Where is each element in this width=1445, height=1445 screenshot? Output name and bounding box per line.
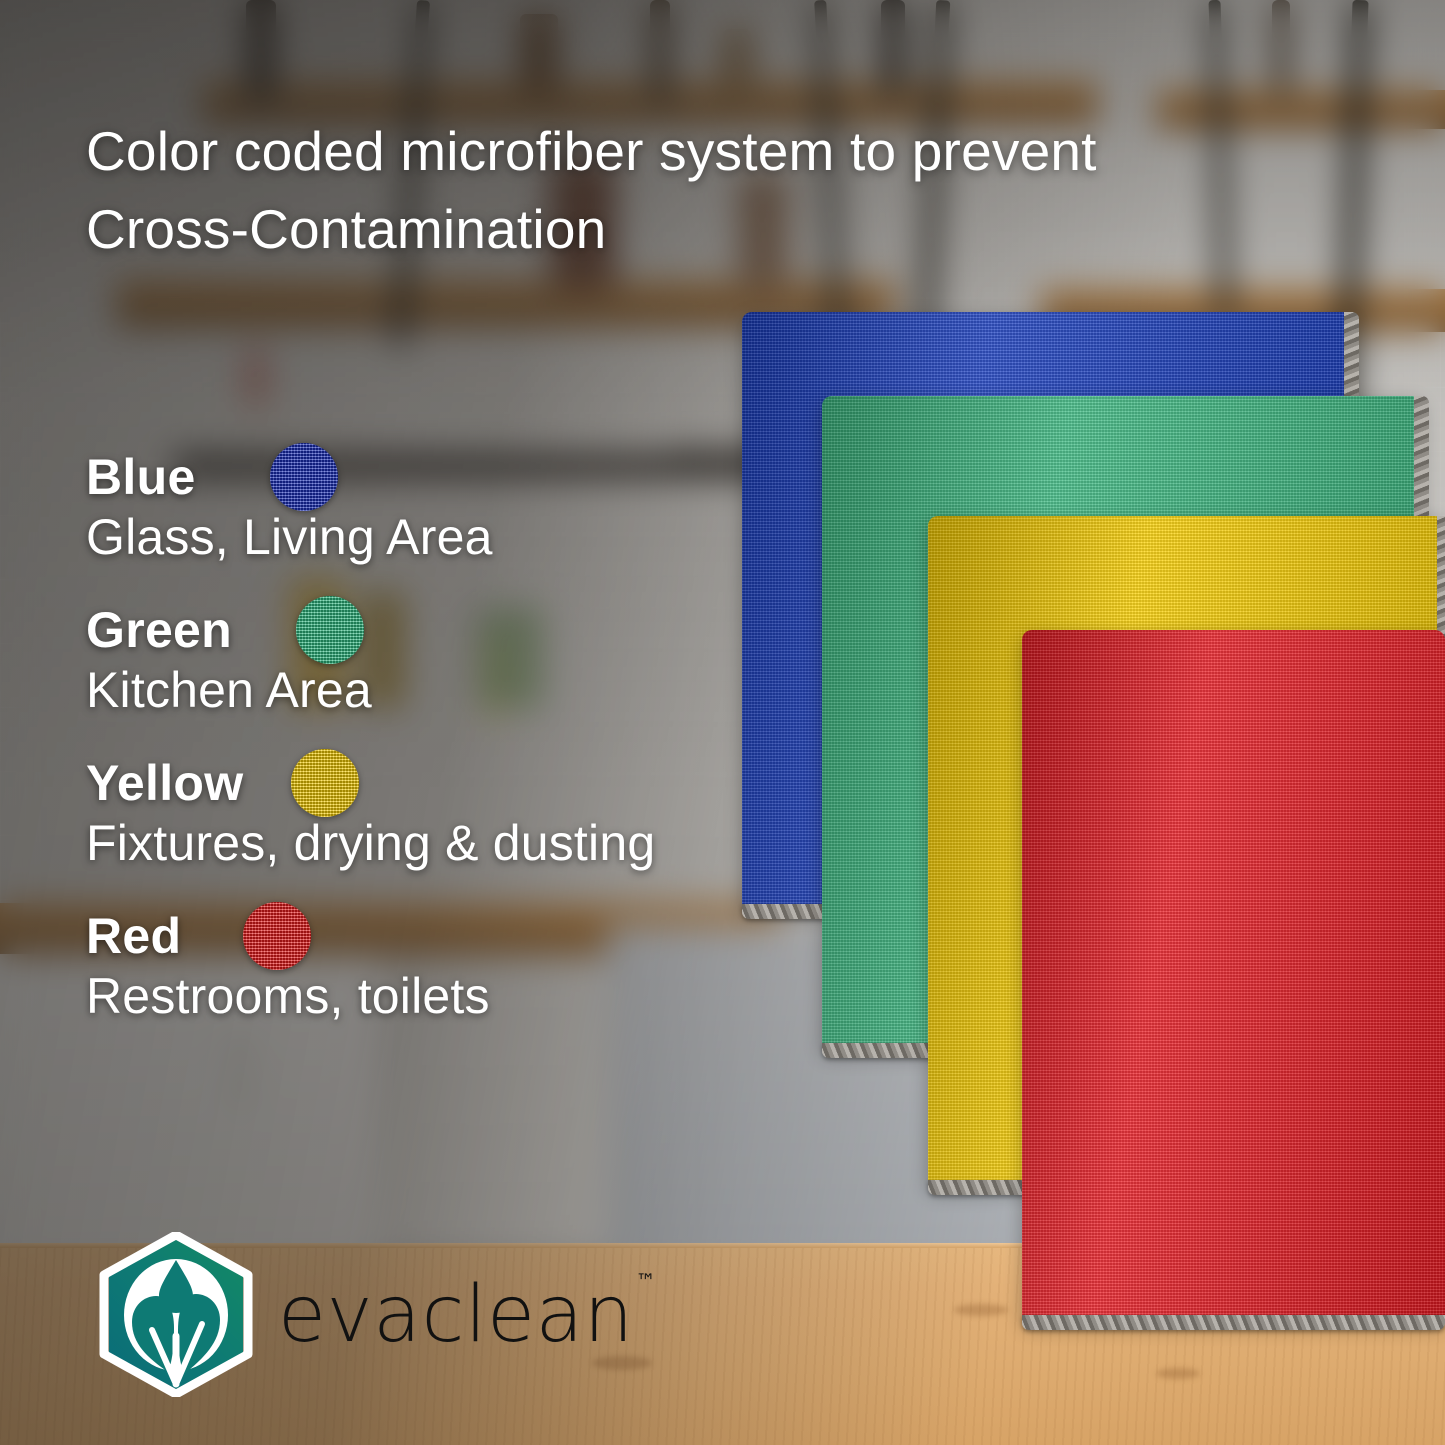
hexagon-leaf-droplet-icon xyxy=(96,1232,256,1397)
brand-wordmark-text: evaclean xyxy=(278,1270,634,1360)
legend-color-name: Blue xyxy=(86,448,196,506)
cloth-red xyxy=(1022,630,1445,1323)
legend-row: Green xyxy=(86,593,806,667)
color-swatch-dot-red xyxy=(243,902,311,970)
trademark-symbol: ™ xyxy=(636,1269,657,1293)
legend-item-red: Red Restrooms, toilets xyxy=(86,899,806,1024)
legend-row: Blue xyxy=(86,440,806,514)
cloth-shading xyxy=(1022,630,1445,1323)
legend-color-name: Red xyxy=(86,907,181,965)
legend-color-name: Yellow xyxy=(86,754,243,812)
legend-color-description: Kitchen Area xyxy=(86,663,806,718)
headline-line-2: Cross-Contamination xyxy=(86,190,1386,268)
legend-color-description: Restrooms, toilets xyxy=(86,969,806,1024)
legend-item-green: Green Kitchen Area xyxy=(86,593,806,718)
cloth-serged-edge xyxy=(1022,1315,1445,1330)
color-code-legend: Blue Glass, Living Area Green Kitchen Ar… xyxy=(86,440,806,1052)
color-swatch-dot-blue xyxy=(270,443,338,511)
legend-item-blue: Blue Glass, Living Area xyxy=(86,440,806,565)
legend-item-yellow: Yellow Fixtures, drying & dusting xyxy=(86,746,806,871)
legend-color-name: Green xyxy=(86,601,232,659)
headline-line-1: Color coded microfiber system to prevent xyxy=(86,112,1386,190)
color-swatch-dot-green xyxy=(296,596,364,664)
legend-row: Yellow xyxy=(86,746,806,820)
legend-row: Red xyxy=(86,899,806,973)
brand-logo: evaclean™ xyxy=(96,1232,654,1397)
color-swatch-dot-yellow xyxy=(291,749,359,817)
infographic-canvas: Color coded microfiber system to prevent… xyxy=(0,0,1445,1445)
legend-color-description: Fixtures, drying & dusting xyxy=(86,816,806,871)
legend-color-description: Glass, Living Area xyxy=(86,510,806,565)
headline: Color coded microfiber system to prevent… xyxy=(86,112,1386,268)
brand-wordmark: evaclean™ xyxy=(278,1276,654,1354)
